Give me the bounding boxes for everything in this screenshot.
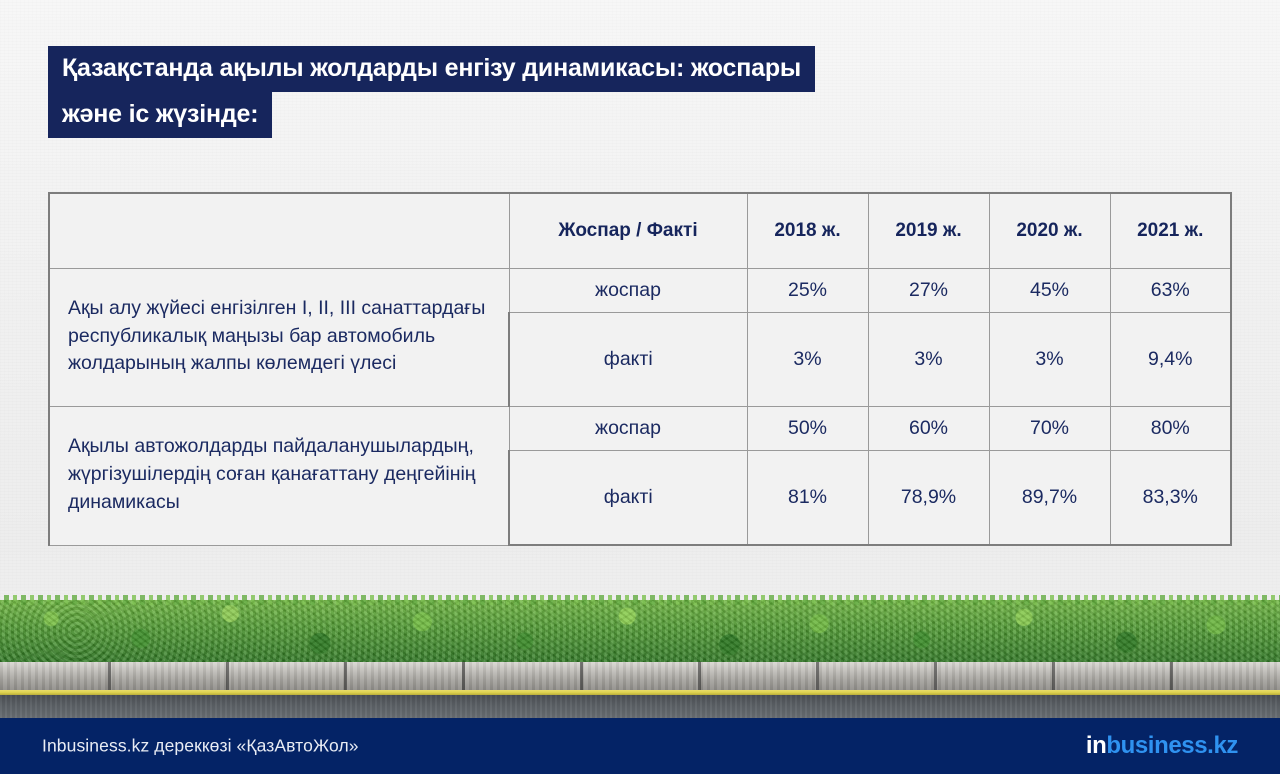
data-table-container: Жоспар / Факті 2018 ж. 2019 ж. 2020 ж. 2… [48,192,1229,546]
row-description-group-1: Ақы алу жүйесі енгізілген I, II, III сан… [49,269,509,407]
title-line-2: және іс жүзінде: [48,92,272,138]
cell-g2-plan-2020: 70% [989,407,1110,451]
cell-g1-plan-2018: 25% [747,269,868,313]
cell-g2-plan-2019: 60% [868,407,989,451]
logo-text-in: in [1086,732,1107,759]
footer-bar: Inbusiness.kz дереккөзі «ҚазАвтоЖол» inb… [0,718,1280,774]
title-line-1: Қазақстанда ақылы жолдарды енгізу динами… [48,46,815,92]
roadside-scenery-image [0,600,1280,718]
asphalt-road-graphic [0,695,1280,718]
cell-g2-plan-2018: 50% [747,407,868,451]
cell-g2-fact-2021: 83,3% [1110,451,1231,546]
row-label-plan-group-2: жоспар [509,407,747,451]
hedge-top-edge [0,595,1280,605]
header-cell-year-2019: 2019 ж. [868,193,989,269]
logo-text-business: business.kz [1106,732,1238,759]
row-label-plan-group-1: жоспар [509,269,747,313]
cell-g1-fact-2021: 9,4% [1110,313,1231,407]
header-cell-blank [49,193,509,269]
cell-g2-plan-2021: 80% [1110,407,1231,451]
slide: Қазақстанда ақылы жолдарды енгізу динами… [0,0,1280,774]
cell-g1-plan-2021: 63% [1110,269,1231,313]
header-cell-year-2021: 2021 ж. [1110,193,1231,269]
table-row: Ақы алу жүйесі енгізілген I, II, III сан… [49,269,1231,313]
row-label-fact-group-1: факті [509,313,747,407]
row-label-fact-group-2: факті [509,451,747,546]
cell-g1-fact-2018: 3% [747,313,868,407]
cell-g1-plan-2020: 45% [989,269,1110,313]
hedge-graphic [0,600,1280,662]
cell-g2-fact-2020: 89,7% [989,451,1110,546]
footer-source-text: Inbusiness.kz дереккөзі «ҚазАвтоЖол» [42,736,359,757]
header-cell-plan-fact: Жоспар / Факті [509,193,747,269]
cell-g1-fact-2020: 3% [989,313,1110,407]
inbusiness-logo[interactable]: inbusiness.kz [1086,732,1238,760]
cell-g2-fact-2019: 78,9% [868,451,989,546]
curb-graphic [0,662,1280,690]
cell-g1-plan-2019: 27% [868,269,989,313]
cell-g2-fact-2018: 81% [747,451,868,546]
page-title: Қазақстанда ақылы жолдарды енгізу динами… [48,46,1198,138]
data-table: Жоспар / Факті 2018 ж. 2019 ж. 2020 ж. 2… [48,192,1232,546]
table-header-row: Жоспар / Факті 2018 ж. 2019 ж. 2020 ж. 2… [49,193,1231,269]
row-description-group-2: Ақылы автожолдарды пайдаланушылардың, жү… [49,407,509,546]
header-cell-year-2020: 2020 ж. [989,193,1110,269]
cell-g1-fact-2019: 3% [868,313,989,407]
header-cell-year-2018: 2018 ж. [747,193,868,269]
table-row: Ақылы автожолдарды пайдаланушылардың, жү… [49,407,1231,451]
